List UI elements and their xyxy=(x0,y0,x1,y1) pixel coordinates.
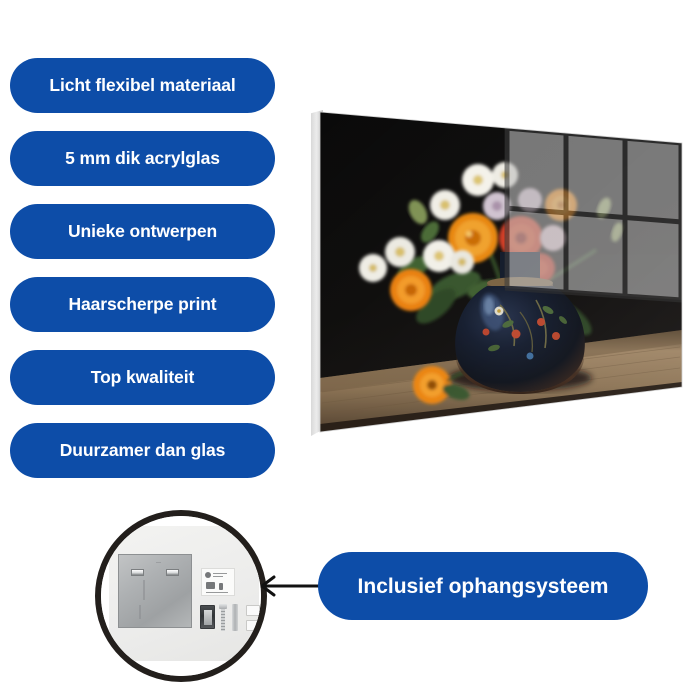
mounting-plate xyxy=(118,554,192,628)
feature-badge-label: Licht flexibel materiaal xyxy=(49,77,235,95)
mounting-plate-slot-right xyxy=(166,569,179,576)
feature-badge-5-mm-dik-acrylglas[interactable]: 5 mm dik acrylglas xyxy=(10,131,275,186)
screw-shaft xyxy=(221,609,225,631)
instruction-icon xyxy=(205,572,211,578)
instruction-text-line xyxy=(213,576,223,577)
feature-badge-unieke-ontwerpen[interactable]: Unieke ontwerpen xyxy=(10,204,275,259)
feature-badge-haarscherpe-print[interactable]: Haarscherpe print xyxy=(10,277,275,332)
instruction-text-line xyxy=(206,592,228,593)
spacer-pad xyxy=(246,605,260,616)
window-reflection xyxy=(505,128,682,300)
feature-badge-label: Top kwaliteit xyxy=(91,369,194,387)
spacer-pad xyxy=(246,620,260,631)
acrylic-panel-edge xyxy=(311,110,323,436)
instruction-icon xyxy=(219,583,223,590)
feature-badge-label: Unieke ontwerpen xyxy=(68,223,217,241)
mounting-plate-slot-left xyxy=(131,569,144,576)
feature-badge-label: Duurzamer dan glas xyxy=(60,442,225,460)
feature-badge-duurzamer-dan-glas[interactable]: Duurzamer dan glas xyxy=(10,423,275,478)
hanging-kit-circle xyxy=(95,510,267,682)
instruction-text-line xyxy=(213,573,227,574)
mounting-plate-marking xyxy=(156,562,161,563)
hanging-kit-photo xyxy=(101,516,261,676)
instruction-card xyxy=(201,568,235,596)
instruction-icon xyxy=(206,582,215,589)
screw xyxy=(220,604,226,631)
callout-badge-inclusief-ophangsysteem[interactable]: Inclusief ophangsysteem xyxy=(318,552,648,620)
feature-badge-top-kwaliteit[interactable]: Top kwaliteit xyxy=(10,350,275,405)
wall-plug xyxy=(232,604,238,631)
feature-badge-label: 5 mm dik acrylglas xyxy=(65,150,220,168)
feature-badge-licht-flexibel-materiaal[interactable]: Licht flexibel materiaal xyxy=(10,58,275,113)
mounting-plate-marking xyxy=(143,580,145,600)
callout-badge-label: Inclusief ophangsysteem xyxy=(358,576,609,597)
mounting-plate-marking xyxy=(139,605,141,619)
feature-badge-label: Haarscherpe print xyxy=(68,296,216,314)
wall-clip xyxy=(200,605,215,629)
product-feature-graphic: Licht flexibel materiaal 5 mm dik acrylg… xyxy=(0,0,700,700)
